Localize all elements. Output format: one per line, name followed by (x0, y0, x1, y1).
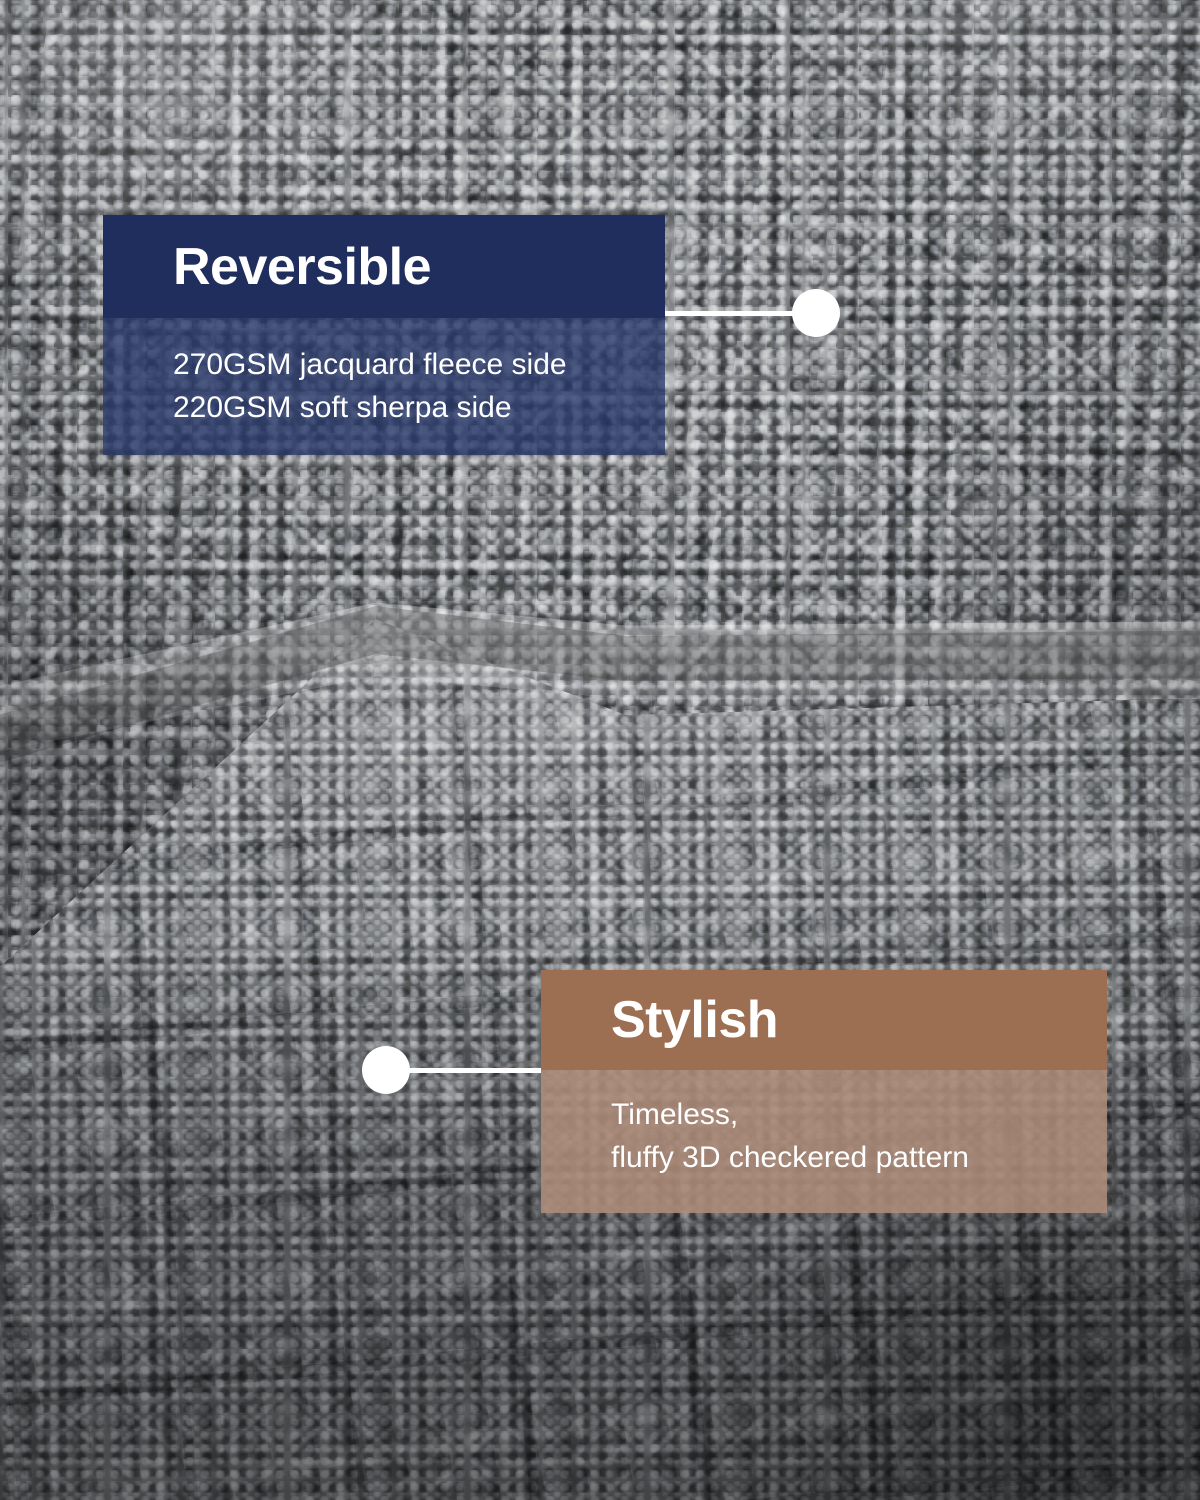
product-infographic: Reversible 270GSM jacquard fleece side 2… (0, 0, 1200, 1500)
callout-detail-line-1: 270GSM jacquard fleece side (173, 344, 665, 387)
callout-detail-line-2: 220GSM soft sherpa side (173, 387, 665, 430)
callout-detail-line-3: Timeless, (611, 1094, 1107, 1137)
leader-line-stylish (400, 1068, 541, 1073)
callout-detail-line-4: fluffy 3D checkered pattern (611, 1137, 1107, 1180)
callout-header-reversible: Reversible (103, 215, 665, 318)
callout-title-stylish: Stylish (611, 994, 778, 1046)
callout-body-stylish: Timeless, fluffy 3D checkered pattern (541, 1070, 1107, 1213)
callout-title-reversible: Reversible (173, 241, 431, 293)
leader-line-reversible (665, 311, 795, 316)
leader-dot-stylish (362, 1046, 410, 1094)
callout-card-stylish: Stylish Timeless, fluffy 3D checkered pa… (541, 970, 1107, 1213)
callout-header-stylish: Stylish (541, 970, 1107, 1070)
callout-card-reversible: Reversible 270GSM jacquard fleece side 2… (103, 215, 665, 455)
leader-dot-reversible (792, 289, 840, 337)
callout-body-reversible: 270GSM jacquard fleece side 220GSM soft … (103, 318, 665, 455)
